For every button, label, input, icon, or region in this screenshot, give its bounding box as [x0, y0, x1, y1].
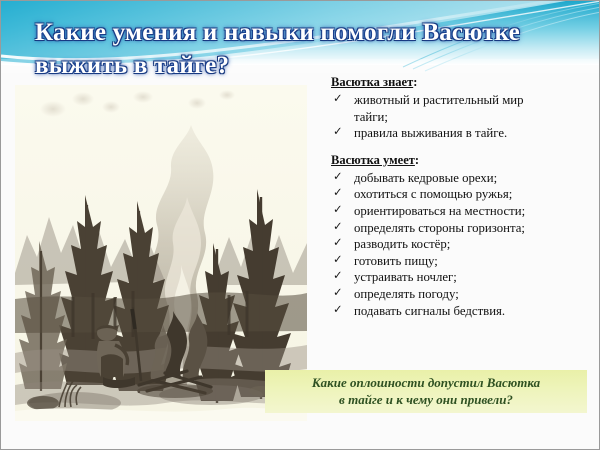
closing-question-line-1: Какие оплошности допустил Васютка	[271, 374, 581, 391]
knows-list: ✓ животный и растительный мир тайги; ✓ п…	[331, 92, 593, 142]
closing-question-line-2: в тайге и к чему они привели?	[271, 391, 581, 408]
can-item-2: охотиться с помощью ружья;	[354, 187, 512, 201]
check-icon: ✓	[333, 185, 343, 202]
list-item: ✓ готовить пищу;	[331, 253, 593, 270]
can-item-8: определять погоду;	[354, 287, 459, 301]
knows-item-1-line-1: животный и растительный мир	[354, 93, 524, 107]
list-item: ✓ устраивать ночлег;	[331, 269, 593, 286]
can-item-1: добывать кедровые орехи;	[354, 171, 497, 185]
can-item-5: разводить костёр;	[354, 237, 450, 251]
check-icon: ✓	[333, 202, 343, 219]
can-heading: Васютка умеет:	[331, 153, 593, 168]
can-list: ✓ добывать кедровые орехи; ✓ охотиться с…	[331, 170, 593, 319]
knows-item-2: правила выживания в тайге.	[354, 126, 507, 140]
check-icon: ✓	[333, 235, 343, 252]
title-line-2: выжить в тайге?	[35, 52, 229, 79]
knows-item-1-line-2: тайги;	[354, 110, 388, 124]
section-spacer	[331, 142, 593, 153]
list-item-continuation: тайги;	[331, 109, 593, 126]
list-item: ✓ ориентироваться на местности;	[331, 203, 593, 220]
can-heading-colon: :	[415, 153, 419, 167]
list-item: ✓ добывать кедровые орехи;	[331, 170, 593, 187]
slide-title: Какие умения и навыки помогли Васютке вы…	[35, 17, 575, 82]
list-item: ✓ подавать сигналы бедствия.	[331, 303, 593, 320]
check-icon: ✓	[333, 268, 343, 285]
knows-heading-colon: :	[413, 75, 417, 89]
list-item: ✓ определять погоду;	[331, 286, 593, 303]
list-item: ✓ разводить костёр;	[331, 236, 593, 253]
check-icon: ✓	[333, 124, 343, 141]
can-item-3: ориентироваться на местности;	[354, 204, 525, 218]
can-item-9: подавать сигналы бедствия.	[354, 304, 505, 318]
can-heading-text: Васютка умеет	[331, 153, 415, 167]
knows-heading: Васютка знает:	[331, 75, 593, 90]
can-item-6: готовить пищу;	[354, 254, 438, 268]
check-icon: ✓	[333, 219, 343, 236]
closing-question-highlight: Какие оплошности допустил Васютка в тайг…	[265, 370, 587, 413]
check-icon: ✓	[333, 91, 343, 108]
list-item: ✓ определять стороны горизонта;	[331, 220, 593, 237]
list-item: ✓ животный и растительный мир	[331, 92, 593, 109]
taiga-campfire-illustration	[15, 85, 307, 421]
skills-text-column: Васютка знает: ✓ животный и растительный…	[331, 75, 593, 319]
check-icon: ✓	[333, 169, 343, 186]
title-line-1: Какие умения и навыки помогли Васютке	[35, 19, 520, 46]
knows-heading-text: Васютка знает	[331, 75, 413, 89]
check-icon: ✓	[333, 252, 343, 269]
check-icon: ✓	[333, 302, 343, 319]
list-item: ✓ охотиться с помощью ружья;	[331, 186, 593, 203]
can-item-7: устраивать ночлег;	[354, 270, 457, 284]
list-item: ✓ правила выживания в тайге.	[331, 125, 593, 142]
slide: Какие умения и навыки помогли Васютке вы…	[0, 0, 600, 450]
can-item-4: определять стороны горизонта;	[354, 221, 525, 235]
check-icon: ✓	[333, 285, 343, 302]
